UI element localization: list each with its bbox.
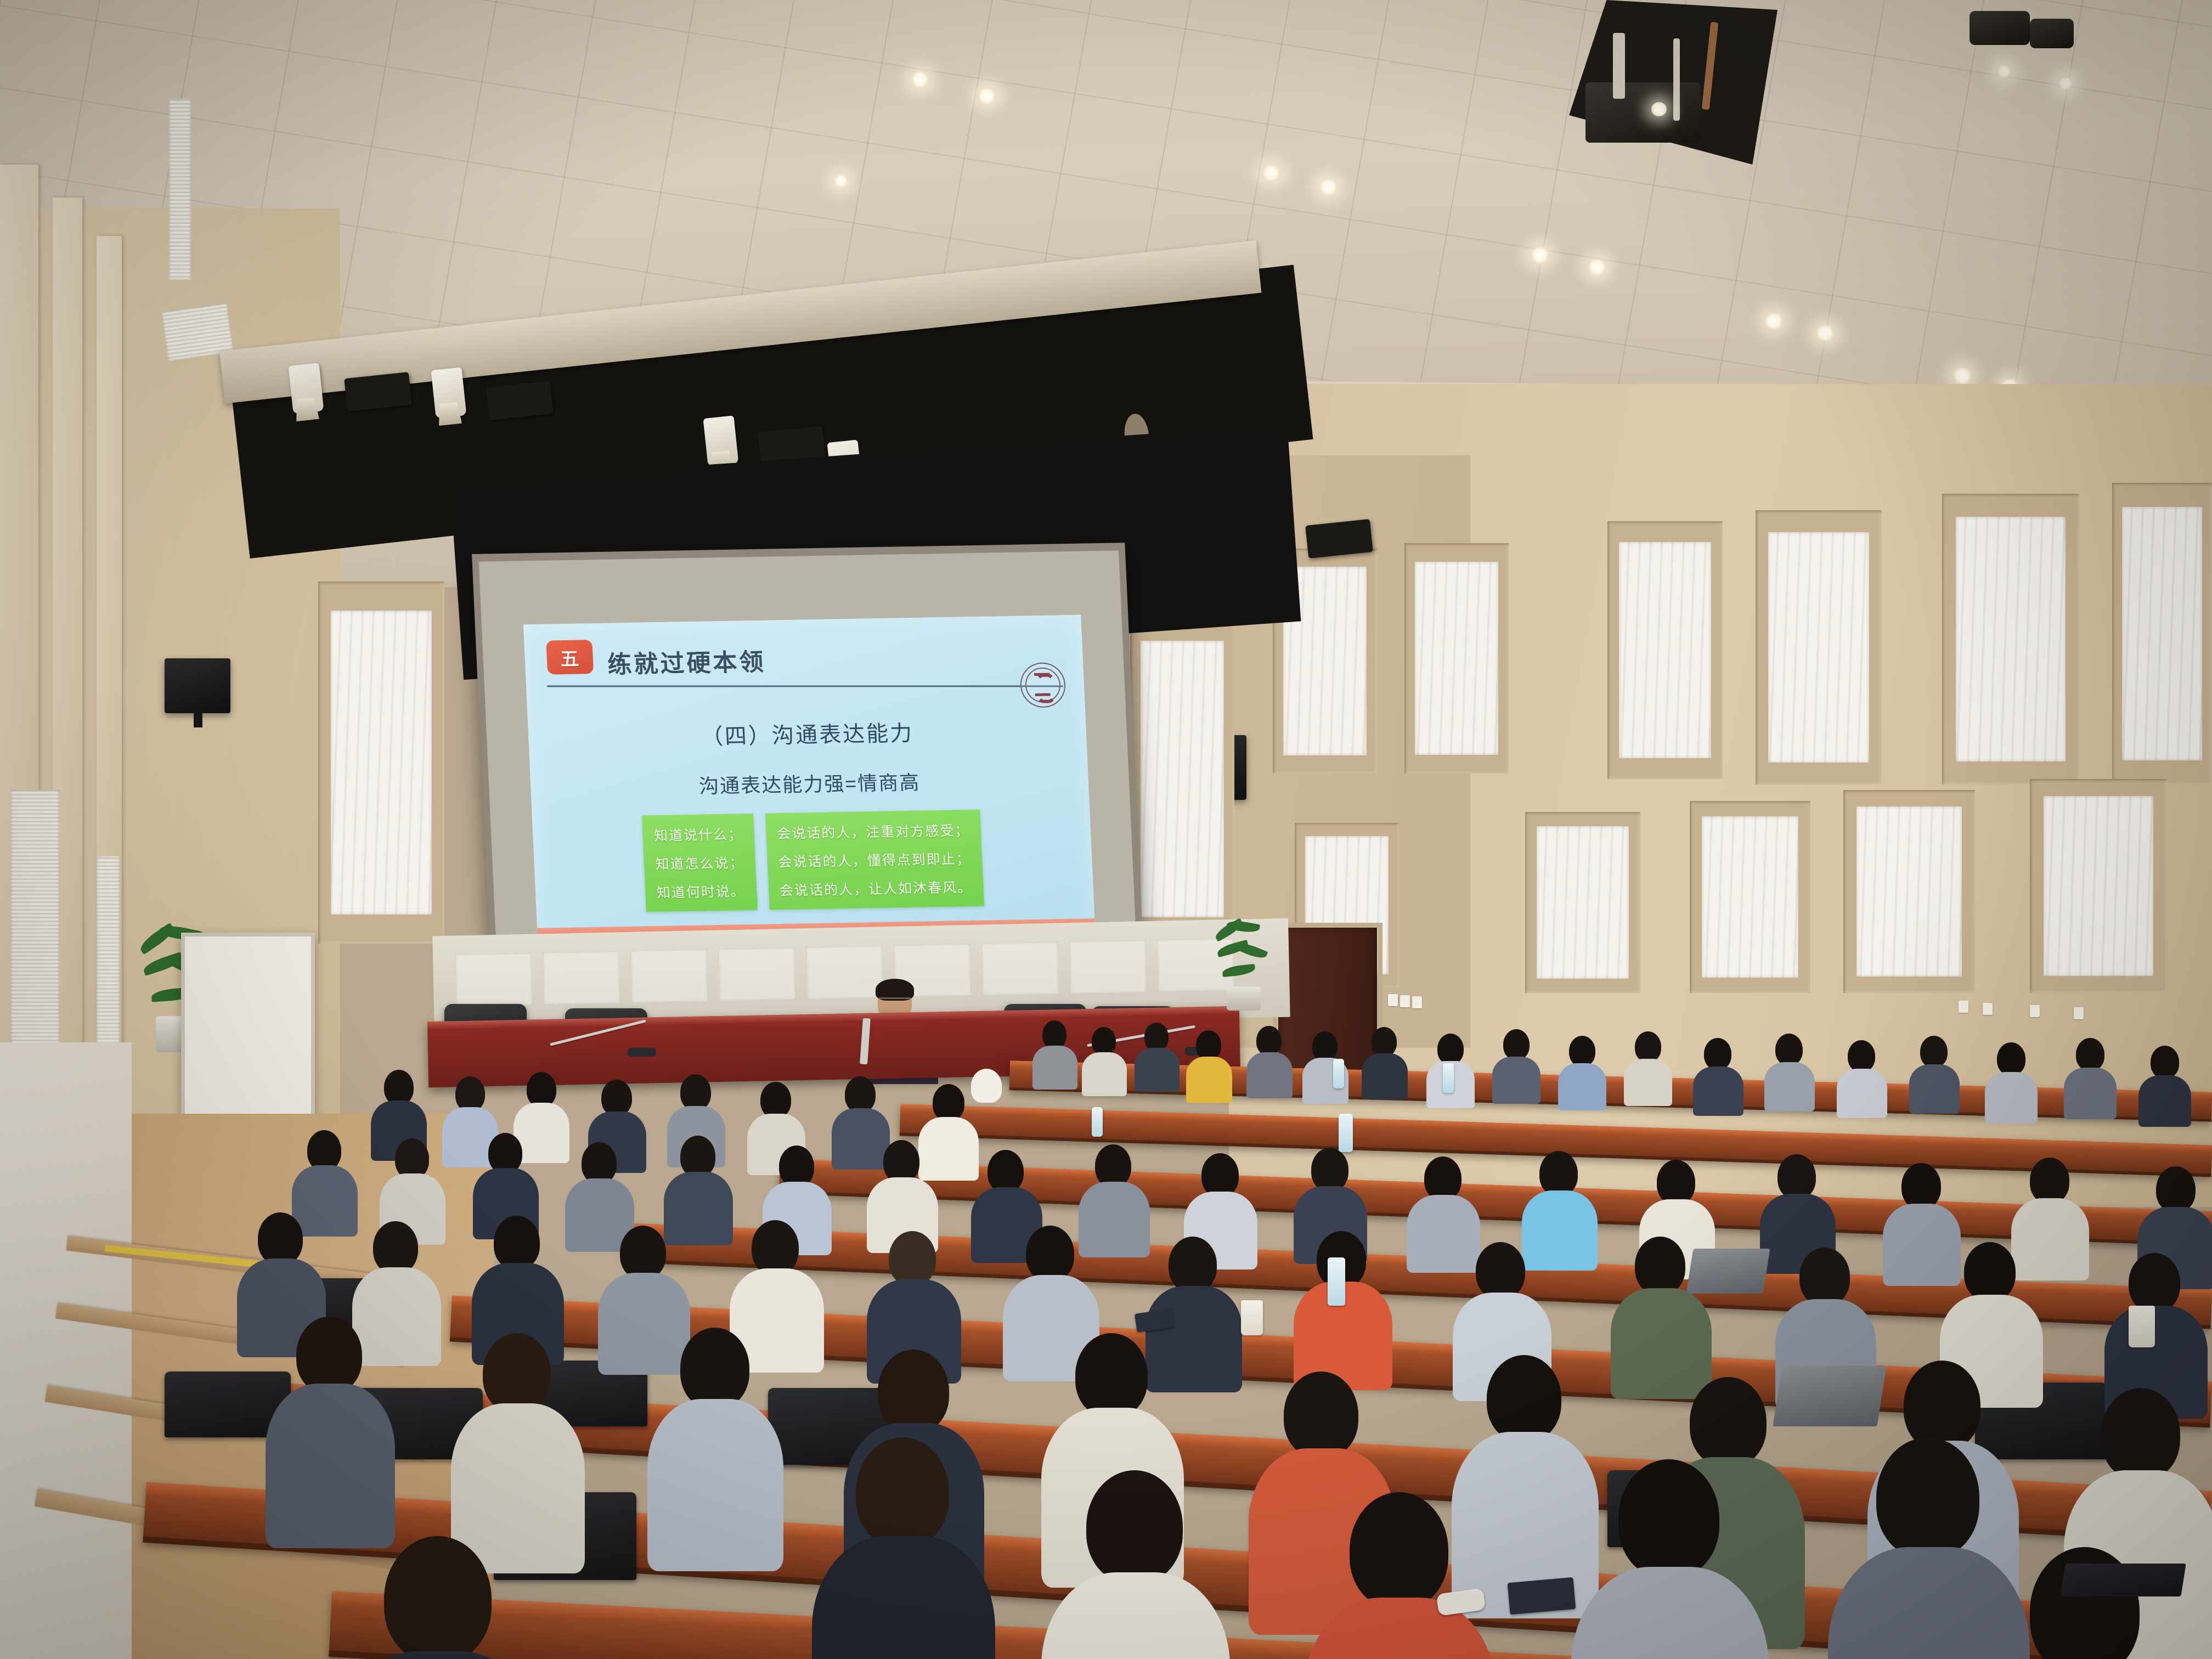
acoustic-panel (2030, 779, 2167, 993)
water-bottle[interactable] (1092, 1107, 1103, 1137)
coffee-cup[interactable] (2129, 1306, 2155, 1347)
university-seal-logo (1019, 662, 1066, 708)
slide-left-green-box: 知道说什么； 知道怎么说； 知道何时说。 (642, 814, 757, 912)
aisle-side-wall (0, 1042, 132, 1659)
ceiling-downlight (1319, 179, 1338, 195)
stage-spotlight (344, 372, 412, 411)
stage-spotlight (289, 363, 324, 414)
notebook[interactable] (2060, 1564, 2186, 1596)
ceiling-downlight (1588, 259, 1606, 275)
projector-mount-pole (1673, 38, 1680, 121)
seal-bar-top (1034, 673, 1049, 676)
slide-green-boxes: 知道说什么； 知道怎么说； 知道何时说。 会说话的人，注重对方感受； 会说话的人… (532, 808, 1094, 914)
lecture-hall-photo: 五 练就过硬本领 （四）沟通表达能力 沟通表达能力强=情商高 知道说什么； 知道… (0, 0, 2212, 1659)
stage-spotlight (431, 367, 467, 418)
ceiling-downlight (1531, 247, 1549, 263)
wall-outlet[interactable] (1388, 994, 1398, 1006)
wall-outlet[interactable] (1412, 996, 1422, 1008)
green-box-line: 知道怎么说； (655, 852, 745, 873)
green-box-line: 会说话的人，注重对方感受； (776, 820, 970, 843)
ceiling-downlight (2058, 77, 2073, 90)
slide-badge-number: 五 (560, 644, 580, 671)
green-box-line: 会说话的人，让人如沐春风。 (779, 877, 973, 900)
acoustic-panel (1525, 812, 1640, 993)
wall-outlet[interactable] (2030, 1005, 2040, 1017)
speaker-mount (194, 711, 202, 727)
acoustic-panel (1690, 801, 1810, 993)
green-box-line: 会说话的人，懂得点到即止； (778, 848, 972, 871)
acoustic-panel (1843, 790, 1975, 993)
acoustic-panel (1130, 614, 1234, 944)
wall-vent (169, 99, 191, 280)
seal-monogram (1035, 673, 1056, 703)
acoustic-panel (2112, 483, 2212, 785)
microphone-base (628, 1048, 656, 1057)
slide-right-green-box: 会说话的人，注重对方感受； 会说话的人，懂得点到即止； 会说话的人，让人如沐春风… (765, 810, 984, 910)
smartphone[interactable] (1508, 1577, 1576, 1615)
ceiling-downlight (1262, 165, 1280, 181)
wall-outlet[interactable] (2074, 1007, 2084, 1019)
water-bottle[interactable] (1328, 1257, 1345, 1306)
water-bottle[interactable] (1333, 1059, 1344, 1088)
presenter-glasses (879, 997, 911, 1005)
wall-outlet[interactable] (1983, 1003, 1993, 1015)
ceiling-downlight (834, 174, 848, 188)
water-bottle[interactable] (1443, 1063, 1454, 1093)
plant-pot (1227, 986, 1261, 1011)
slide-section-badge: 五 (546, 640, 594, 674)
slide-title: 练就过硬本领 (607, 642, 766, 680)
presentation-slide: 五 练就过硬本领 （四）沟通表达能力 沟通表达能力强=情商高 知道说什么； 知道… (523, 615, 1096, 943)
stage-spotlight (703, 415, 739, 466)
tablet-device[interactable] (1686, 1249, 1770, 1294)
seal-bar-bottom (1035, 693, 1051, 696)
potted-plant (1210, 922, 1276, 1009)
ceiling-downlight (1997, 65, 2011, 78)
water-bottle[interactable] (1339, 1114, 1353, 1152)
wall-speaker (165, 658, 230, 713)
wall-outlet[interactable] (1959, 1001, 1968, 1013)
ceiling-downlight (1764, 313, 1783, 329)
screen-surface: 五 练就过硬本领 （四）沟通表达能力 沟通表达能力强=情商高 知道说什么； 知道… (479, 550, 1137, 952)
slide-equation-line: 沟通表达能力强=情商高 (530, 764, 1089, 802)
ceiling-projector (1585, 82, 1701, 143)
green-box-line: 知道何时说。 (656, 881, 746, 902)
coffee-cup[interactable] (1241, 1300, 1263, 1335)
ceiling-downlight (1953, 368, 1972, 384)
ceiling-speaker-box (2030, 19, 2074, 48)
ceiling-downlight (1816, 325, 1835, 341)
acoustic-panel (1607, 521, 1723, 779)
acoustic-panel (318, 582, 444, 944)
laptop-device[interactable] (1773, 1366, 1886, 1426)
acoustic-panel (1404, 543, 1509, 774)
slide-title-rule (547, 685, 1063, 687)
ceiling-speaker-box (1970, 11, 2030, 45)
stage-spotlight (486, 381, 554, 420)
acoustic-panel (1756, 510, 1882, 785)
ceiling-downlight (911, 71, 929, 88)
projection-screen: 五 练就过硬本领 （四）沟通表达能力 沟通表达能力强=情商高 知道说什么； 知道… (472, 543, 1143, 960)
acoustic-panel (1942, 494, 2079, 785)
wall-outlet[interactable] (1400, 995, 1410, 1007)
ceiling-downlight (1651, 102, 1667, 116)
stage-spotlight (1305, 519, 1373, 558)
slide-section-heading: （四）沟通表达能力 (528, 712, 1087, 754)
green-box-line: 知道说什么； (653, 823, 743, 845)
ceiling-downlight (978, 88, 996, 104)
projector-mount-pipe (1613, 33, 1625, 99)
